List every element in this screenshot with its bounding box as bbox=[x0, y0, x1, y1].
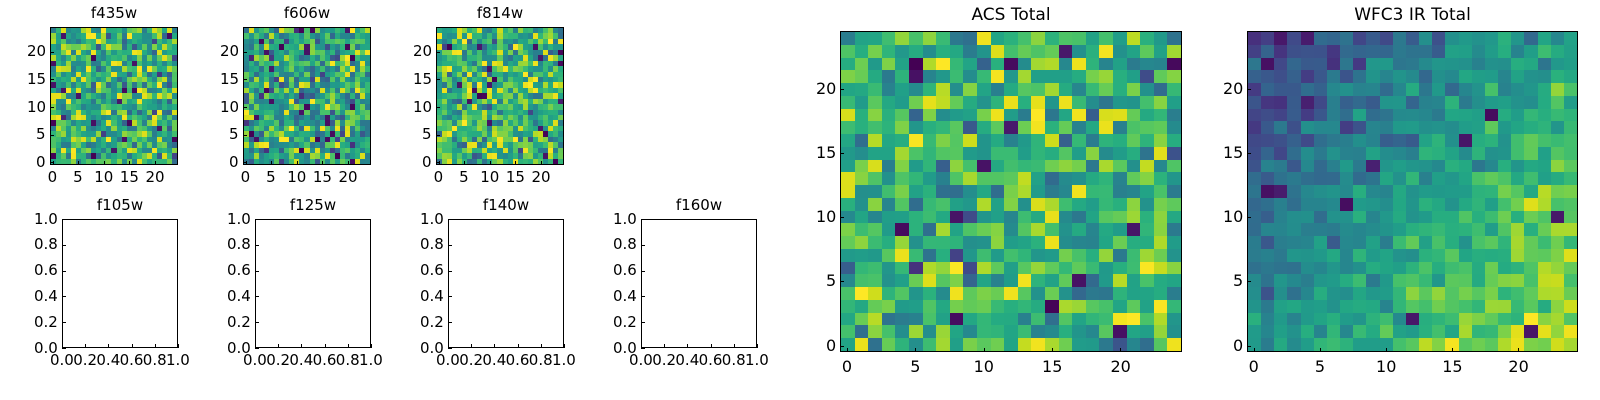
tick-mark bbox=[85, 344, 86, 348]
tick-label: 0 bbox=[1249, 359, 1259, 375]
heatmap-grid bbox=[841, 32, 1181, 351]
tick-label: 10 bbox=[287, 170, 306, 185]
tick-label: 10 bbox=[27, 100, 46, 115]
panel-f435w[interactable]: f435w 0510152005101520 bbox=[50, 27, 178, 165]
tick-label: 0 bbox=[842, 359, 852, 375]
tick-label: 0 bbox=[48, 170, 58, 185]
tick-mark bbox=[641, 245, 645, 246]
panel-acs-total[interactable]: ACS Total 0510152005101520 bbox=[840, 31, 1182, 352]
tick-mark bbox=[155, 161, 156, 165]
tick-mark bbox=[243, 135, 247, 136]
tick-mark bbox=[518, 344, 519, 348]
tick-mark bbox=[448, 348, 452, 349]
tick-mark bbox=[641, 219, 645, 220]
tick-mark bbox=[50, 107, 54, 108]
tick-label: 10 bbox=[1376, 359, 1396, 375]
tick-label: 5 bbox=[36, 127, 46, 142]
tick-label: 0 bbox=[229, 155, 239, 170]
tick-mark bbox=[448, 245, 452, 246]
tick-label: 0.8 bbox=[336, 353, 360, 368]
panel-f814w[interactable]: f814w 0510152005101520 bbox=[436, 27, 564, 165]
tick-label: 15 bbox=[313, 170, 332, 185]
empty-plot-area[interactable] bbox=[641, 219, 757, 348]
tick-label: 10 bbox=[220, 100, 239, 115]
tick-label: 15 bbox=[413, 72, 432, 87]
tick-mark bbox=[1254, 348, 1255, 352]
heatmap-plot-area[interactable] bbox=[243, 27, 371, 165]
tick-label: 0.8 bbox=[143, 353, 167, 368]
tick-mark bbox=[840, 153, 844, 154]
tick-label: 5 bbox=[1233, 273, 1243, 289]
tick-label: 20 bbox=[413, 44, 432, 59]
tick-mark bbox=[641, 271, 645, 272]
tick-label: 20 bbox=[1223, 81, 1243, 97]
heatmap-grid bbox=[244, 28, 370, 164]
panel-title: f606w bbox=[243, 6, 371, 21]
heatmap-grid bbox=[437, 28, 563, 164]
tick-mark bbox=[840, 217, 844, 218]
tick-label: 20 bbox=[220, 44, 239, 59]
tick-mark bbox=[641, 322, 645, 323]
heatmap-grid bbox=[1248, 32, 1577, 351]
tick-mark bbox=[490, 161, 491, 165]
tick-label: 0.6 bbox=[420, 263, 444, 278]
tick-mark bbox=[50, 52, 54, 53]
tick-label: 0.0 bbox=[613, 341, 637, 356]
tick-mark bbox=[840, 89, 844, 90]
tick-mark bbox=[271, 161, 272, 165]
tick-label: 5 bbox=[422, 127, 432, 142]
tick-label: 0.4 bbox=[420, 289, 444, 304]
tick-mark bbox=[1386, 348, 1387, 352]
tick-label: 0.4 bbox=[289, 353, 313, 368]
tick-label: 0 bbox=[36, 155, 46, 170]
tick-label: 5 bbox=[910, 359, 920, 375]
tick-mark bbox=[564, 344, 565, 348]
empty-plot-area[interactable] bbox=[62, 219, 178, 348]
panel-title: WFC3 IR Total bbox=[1247, 7, 1578, 24]
tick-mark bbox=[541, 161, 542, 165]
heatmap-plot-area[interactable] bbox=[50, 27, 178, 165]
panel-title: f125w bbox=[255, 198, 371, 213]
tick-mark bbox=[436, 135, 440, 136]
tick-label: 20 bbox=[145, 170, 164, 185]
tick-mark bbox=[687, 344, 688, 348]
tick-label: 0.0 bbox=[34, 341, 58, 356]
tick-label: 0.8 bbox=[227, 237, 251, 252]
tick-mark bbox=[1247, 346, 1251, 347]
tick-mark bbox=[448, 219, 452, 220]
tick-mark bbox=[448, 296, 452, 297]
tick-mark bbox=[132, 344, 133, 348]
tick-label: 5 bbox=[459, 170, 469, 185]
tick-label: 0.2 bbox=[34, 315, 58, 330]
tick-label: 5 bbox=[266, 170, 276, 185]
tick-mark bbox=[243, 79, 247, 80]
tick-mark bbox=[297, 161, 298, 165]
tick-label: 0.2 bbox=[420, 315, 444, 330]
panel-f125w[interactable]: f125w 0.00.20.40.60.81.00.00.20.40.60.81… bbox=[255, 219, 371, 348]
tick-label: 10 bbox=[480, 170, 499, 185]
tick-mark bbox=[255, 219, 259, 220]
panel-f140w[interactable]: f140w 0.00.20.40.60.81.00.00.20.40.60.81… bbox=[448, 219, 564, 348]
tick-mark bbox=[448, 271, 452, 272]
tick-label: 0 bbox=[434, 170, 444, 185]
tick-mark bbox=[325, 344, 326, 348]
tick-mark bbox=[1247, 281, 1251, 282]
tick-label: 0 bbox=[826, 338, 836, 354]
panel-f105w[interactable]: f105w 0.00.20.40.60.81.00.00.20.40.60.81… bbox=[62, 219, 178, 348]
tick-mark bbox=[62, 271, 66, 272]
tick-mark bbox=[641, 348, 645, 349]
empty-plot-area[interactable] bbox=[448, 219, 564, 348]
tick-mark bbox=[348, 344, 349, 348]
tick-mark bbox=[278, 344, 279, 348]
tick-label: 0.8 bbox=[420, 237, 444, 252]
tick-label: 0.0 bbox=[227, 341, 251, 356]
tick-mark bbox=[664, 344, 665, 348]
tick-mark bbox=[436, 52, 440, 53]
tick-mark bbox=[1247, 153, 1251, 154]
tick-label: 15 bbox=[1223, 145, 1243, 161]
tick-label: 5 bbox=[1315, 359, 1325, 375]
tick-mark bbox=[62, 322, 66, 323]
tick-label: 20 bbox=[1508, 359, 1528, 375]
tick-label: 0.4 bbox=[96, 353, 120, 368]
tick-mark bbox=[1518, 348, 1519, 352]
tick-label: 0.8 bbox=[722, 353, 746, 368]
tick-mark bbox=[50, 162, 54, 163]
tick-label: 0.2 bbox=[266, 353, 290, 368]
tick-label: 0.6 bbox=[699, 353, 723, 368]
heatmap-plot-area[interactable] bbox=[436, 27, 564, 165]
tick-mark bbox=[62, 348, 66, 349]
tick-label: 1.0 bbox=[34, 212, 58, 227]
tick-mark bbox=[436, 79, 440, 80]
empty-plot-area[interactable] bbox=[255, 219, 371, 348]
tick-label: 20 bbox=[816, 81, 836, 97]
tick-mark bbox=[50, 135, 54, 136]
tick-mark bbox=[155, 344, 156, 348]
panel-f606w[interactable]: f606w 0510152005101520 bbox=[243, 27, 371, 165]
tick-mark bbox=[840, 281, 844, 282]
tick-mark bbox=[62, 245, 66, 246]
tick-label: 1.0 bbox=[166, 353, 190, 368]
tick-mark bbox=[301, 344, 302, 348]
tick-mark bbox=[471, 344, 472, 348]
tick-mark bbox=[243, 162, 247, 163]
tick-mark bbox=[243, 107, 247, 108]
tick-label: 0.6 bbox=[613, 263, 637, 278]
tick-mark bbox=[494, 344, 495, 348]
tick-mark bbox=[464, 161, 465, 165]
tick-label: 0.0 bbox=[420, 341, 444, 356]
tick-mark bbox=[1320, 348, 1321, 352]
tick-mark bbox=[108, 344, 109, 348]
panel-title: f435w bbox=[50, 6, 178, 21]
tick-label: 0.2 bbox=[459, 353, 483, 368]
tick-label: 15 bbox=[27, 72, 46, 87]
tick-label: 10 bbox=[816, 209, 836, 225]
tick-mark bbox=[255, 271, 259, 272]
tick-mark bbox=[50, 79, 54, 80]
tick-label: 0.4 bbox=[613, 289, 637, 304]
tick-label: 0.2 bbox=[613, 315, 637, 330]
tick-label: 15 bbox=[120, 170, 139, 185]
panel-f160w[interactable]: f160w 0.00.20.40.60.81.00.00.20.40.60.81… bbox=[641, 219, 757, 348]
tick-mark bbox=[711, 344, 712, 348]
tick-label: 10 bbox=[94, 170, 113, 185]
tick-mark bbox=[104, 161, 105, 165]
tick-label: 20 bbox=[531, 170, 550, 185]
tick-mark bbox=[348, 161, 349, 165]
tick-label: 1.0 bbox=[359, 353, 383, 368]
tick-label: 0.4 bbox=[34, 289, 58, 304]
tick-mark bbox=[840, 346, 844, 347]
tick-label: 0.8 bbox=[34, 237, 58, 252]
tick-label: 5 bbox=[826, 273, 836, 289]
tick-label: 0.6 bbox=[313, 353, 337, 368]
tick-label: 0.8 bbox=[529, 353, 553, 368]
panel-wfc3-ir-total[interactable]: WFC3 IR Total 0510152005101520 bbox=[1247, 31, 1578, 352]
heatmap-plot-area[interactable] bbox=[840, 31, 1182, 352]
panel-title: f105w bbox=[62, 198, 178, 213]
tick-mark bbox=[734, 344, 735, 348]
tick-mark bbox=[1247, 217, 1251, 218]
tick-mark bbox=[915, 348, 916, 352]
tick-label: 20 bbox=[27, 44, 46, 59]
tick-label: 0.4 bbox=[675, 353, 699, 368]
panel-title: f140w bbox=[448, 198, 564, 213]
tick-mark bbox=[1247, 89, 1251, 90]
tick-mark bbox=[847, 348, 848, 352]
tick-mark bbox=[371, 344, 372, 348]
tick-label: 0.4 bbox=[482, 353, 506, 368]
tick-mark bbox=[641, 296, 645, 297]
tick-label: 0 bbox=[422, 155, 432, 170]
tick-label: 20 bbox=[338, 170, 357, 185]
tick-mark bbox=[255, 348, 259, 349]
heatmap-grid bbox=[51, 28, 177, 164]
figure-canvas: f435w 0510152005101520 f606w 05101520051… bbox=[0, 0, 1600, 400]
tick-mark bbox=[1120, 348, 1121, 352]
tick-mark bbox=[62, 296, 66, 297]
tick-label: 0 bbox=[1233, 338, 1243, 354]
tick-mark bbox=[62, 219, 66, 220]
tick-label: 1.0 bbox=[745, 353, 769, 368]
tick-label: 0.6 bbox=[506, 353, 530, 368]
tick-mark bbox=[515, 161, 516, 165]
tick-label: 10 bbox=[1223, 209, 1243, 225]
heatmap-plot-area[interactable] bbox=[1247, 31, 1578, 352]
tick-label: 0.6 bbox=[120, 353, 144, 368]
tick-label: 0.2 bbox=[73, 353, 97, 368]
tick-label: 15 bbox=[506, 170, 525, 185]
tick-mark bbox=[129, 161, 130, 165]
tick-label: 1.0 bbox=[227, 212, 251, 227]
tick-mark bbox=[322, 161, 323, 165]
tick-label: 5 bbox=[73, 170, 83, 185]
panel-title: f814w bbox=[436, 6, 564, 21]
tick-label: 0.6 bbox=[227, 263, 251, 278]
tick-mark bbox=[255, 245, 259, 246]
tick-mark bbox=[448, 322, 452, 323]
tick-mark bbox=[255, 296, 259, 297]
tick-mark bbox=[541, 344, 542, 348]
tick-mark bbox=[1452, 348, 1453, 352]
tick-mark bbox=[757, 344, 758, 348]
tick-label: 0.4 bbox=[227, 289, 251, 304]
tick-label: 0 bbox=[241, 170, 251, 185]
tick-mark bbox=[436, 107, 440, 108]
tick-mark bbox=[255, 322, 259, 323]
tick-label: 0.2 bbox=[227, 315, 251, 330]
tick-mark bbox=[178, 344, 179, 348]
tick-label: 0.8 bbox=[613, 237, 637, 252]
tick-mark bbox=[78, 161, 79, 165]
tick-label: 0.6 bbox=[34, 263, 58, 278]
tick-label: 15 bbox=[1042, 359, 1062, 375]
tick-mark bbox=[984, 348, 985, 352]
tick-label: 1.0 bbox=[552, 353, 576, 368]
panel-title: f160w bbox=[641, 198, 757, 213]
panel-title: ACS Total bbox=[840, 7, 1182, 24]
tick-mark bbox=[243, 52, 247, 53]
tick-label: 1.0 bbox=[420, 212, 444, 227]
tick-label: 15 bbox=[816, 145, 836, 161]
tick-mark bbox=[1052, 348, 1053, 352]
tick-label: 5 bbox=[229, 127, 239, 142]
tick-label: 20 bbox=[1110, 359, 1130, 375]
tick-label: 1.0 bbox=[613, 212, 637, 227]
tick-label: 15 bbox=[1442, 359, 1462, 375]
tick-label: 15 bbox=[220, 72, 239, 87]
tick-label: 10 bbox=[974, 359, 994, 375]
tick-label: 10 bbox=[413, 100, 432, 115]
tick-mark bbox=[436, 162, 440, 163]
tick-label: 0.2 bbox=[652, 353, 676, 368]
